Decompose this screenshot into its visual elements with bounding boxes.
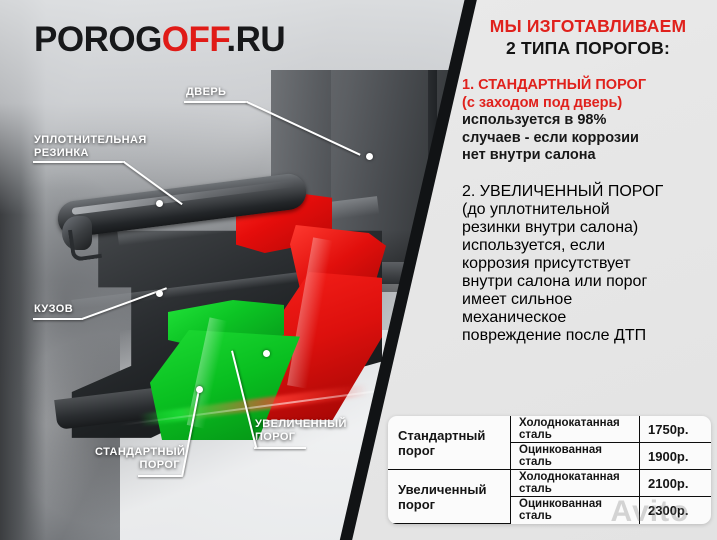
type-2-subtitle-line-1: (до уплотнительной bbox=[462, 201, 714, 219]
type-2-subtitle-line-2: резинки внутри салона) bbox=[462, 219, 714, 237]
type-2-body-line-2: коррозия присутствует bbox=[462, 255, 714, 273]
type-2-body-line-6: повреждение после ДТП bbox=[462, 327, 714, 345]
type-2-body-line-5: механическое bbox=[462, 309, 714, 327]
type-1-body-line-3: нет внутри салона bbox=[462, 147, 714, 165]
callout-dot-standard-sill bbox=[196, 386, 203, 393]
callout-label-body: КУЗОВ bbox=[34, 303, 73, 316]
type-block-standard: 1. СТАНДАРТНЫЙ ПОРОГ (с заходом под двер… bbox=[462, 77, 714, 165]
callout-underline-standard-sill bbox=[138, 475, 183, 477]
logo-text-porog: POROG bbox=[34, 20, 162, 59]
callout-label-standard-sill: СТАНДАРТНЫЙ ПОРОГ bbox=[95, 446, 180, 472]
price-value-2: 1900р. bbox=[640, 443, 712, 470]
callout-underline-enlarged-sill bbox=[254, 447, 306, 449]
table-row: Стандартный порог Холоднокатанная сталь … bbox=[388, 416, 711, 443]
price-material-2: Оцинкованная сталь bbox=[511, 443, 640, 470]
table-row: Увеличенный порог Холоднокатанная сталь … bbox=[388, 470, 711, 497]
price-material-3: Холоднокатанная сталь bbox=[511, 470, 640, 497]
brand-logo[interactable]: POROGOFF.RU bbox=[34, 20, 285, 60]
poster-canvas: POROGOFF.RU ДВЕРЬ УПЛОТНИТЕЛЬНАЯ РЕЗИНКА… bbox=[0, 0, 717, 540]
logo-text-off: OFF bbox=[162, 20, 227, 59]
callout-dot-seal bbox=[156, 200, 163, 207]
type-1-title: 1. СТАНДАРТНЫЙ ПОРОГ bbox=[462, 77, 714, 95]
logo-text-ru: .RU bbox=[226, 20, 285, 59]
price-material-1: Холоднокатанная сталь bbox=[511, 416, 640, 443]
type-1-subtitle: (с заходом под дверь) bbox=[462, 95, 714, 113]
type-2-body-line-1: используется, если bbox=[462, 237, 714, 255]
price-table: Стандартный порог Холоднокатанная сталь … bbox=[388, 416, 711, 524]
price-value-3: 2100р. bbox=[640, 470, 712, 497]
callout-dot-enlarged-sill bbox=[263, 350, 270, 357]
callout-underline-door bbox=[184, 101, 248, 103]
type-1-body-line-2: случаев - если коррозии bbox=[462, 130, 714, 148]
type-1-body-line-1: используется в 98% bbox=[462, 112, 714, 130]
price-value-1: 1750р. bbox=[640, 416, 712, 443]
price-type-standard: Стандартный порог bbox=[388, 416, 511, 470]
callout-underline-seal bbox=[33, 161, 125, 163]
headline-line-2: 2 ТИПА ПОРОГОВ: bbox=[462, 38, 714, 59]
type-2-body-line-4: имеет сильное bbox=[462, 291, 714, 309]
type-2-body-line-3: внутри салона или порог bbox=[462, 273, 714, 291]
callout-dot-body bbox=[156, 290, 163, 297]
callout-label-enlarged-sill: УВЕЛИЧЕННЫЙ ПОРОГ bbox=[255, 418, 347, 444]
type-block-enlarged: 2. УВЕЛИЧЕННЫЙ ПОРОГ (до уплотнительной … bbox=[462, 183, 714, 345]
right-text-column: МЫ ИЗГОТАВЛИВАЕМ 2 ТИПА ПОРОГОВ: 1. СТАН… bbox=[462, 16, 714, 345]
price-value-4: 2300р. bbox=[640, 497, 712, 524]
headline-line-1: МЫ ИЗГОТАВЛИВАЕМ bbox=[462, 16, 714, 37]
price-type-enlarged: Увеличенный порог bbox=[388, 470, 511, 524]
callout-label-door: ДВЕРЬ bbox=[186, 86, 226, 99]
price-material-4: Оцинкованная сталь bbox=[511, 497, 640, 524]
door-seal-clip bbox=[68, 226, 102, 262]
callout-dot-door bbox=[366, 153, 373, 160]
callout-underline-body bbox=[33, 318, 83, 320]
type-2-title: 2. УВЕЛИЧЕННЫЙ ПОРОГ bbox=[462, 183, 714, 201]
callout-label-seal: УПЛОТНИТЕЛЬНАЯ РЕЗИНКА bbox=[34, 134, 147, 160]
